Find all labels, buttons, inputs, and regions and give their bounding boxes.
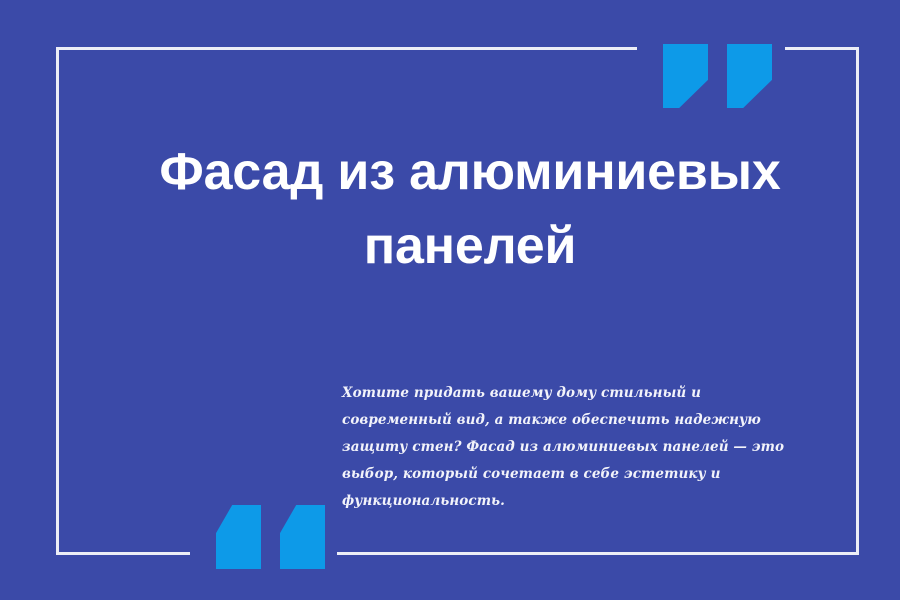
opening-quote-blade-right (280, 505, 325, 569)
slide-title: Фасад из алюминиевых панелей (110, 135, 830, 283)
slide-canvas: Фасад из алюминиевых панелей Хотите прид… (0, 0, 900, 600)
frame-border-top-left (56, 47, 637, 50)
frame-border-left (56, 47, 59, 555)
opening-quote-icon (216, 505, 325, 569)
closing-quote-icon (663, 44, 772, 108)
slide-body-text: Хотите придать вашему дому стильный и со… (342, 380, 800, 515)
closing-quote-blade-right (727, 44, 772, 108)
frame-border-bottom-right (337, 552, 859, 555)
frame-border-bottom-left (56, 552, 190, 555)
opening-quote-blade-left (216, 505, 261, 569)
frame-border-right (856, 47, 859, 555)
closing-quote-blade-left (663, 44, 708, 108)
frame-border-top-right (785, 47, 859, 50)
